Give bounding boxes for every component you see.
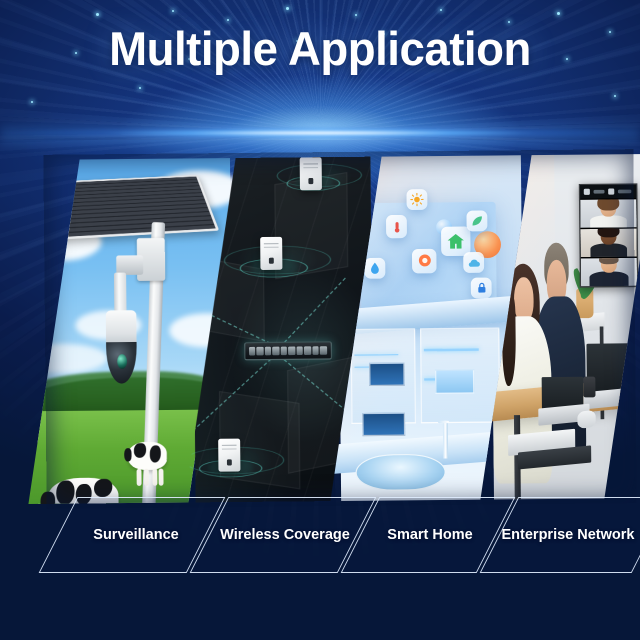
network-switch [244, 342, 332, 361]
video-call-toolbar[interactable] [580, 185, 636, 199]
application-image-strip [48, 154, 631, 504]
hud-readout [369, 362, 405, 386]
mouse [578, 410, 596, 429]
video-tile-participant-2[interactable] [580, 227, 636, 257]
participants-icon [584, 189, 590, 195]
hair [599, 257, 619, 265]
label-smart-home: Smart Home [362, 497, 498, 573]
shoulders [589, 271, 628, 286]
wireless-access-point [299, 157, 321, 190]
label-surveillance: Surveillance [62, 497, 210, 573]
hud-readout [362, 412, 405, 436]
shoulders [590, 215, 627, 228]
cow [127, 442, 166, 470]
leaf-icon [470, 214, 484, 228]
sink-basin [355, 454, 446, 491]
hair [598, 227, 620, 237]
camera-icon [416, 253, 432, 269]
tile-leaf[interactable] [466, 210, 487, 231]
video-tile-participant-1[interactable] [580, 198, 636, 228]
shelf-item [435, 370, 474, 394]
cow-head [124, 448, 132, 461]
thermometer-icon [390, 219, 402, 234]
droplet-icon [368, 261, 382, 275]
wireless-access-point [261, 237, 283, 270]
toolbar-label [618, 190, 631, 194]
video-call-window[interactable] [579, 183, 639, 287]
label-wireless-coverage: Wireless Coverage [211, 497, 359, 573]
solar-panel [46, 175, 218, 240]
faucet [443, 420, 448, 458]
tile-sun[interactable] [406, 190, 427, 211]
horizon-light-bar [0, 126, 640, 140]
chat-icon [608, 189, 614, 195]
tile-cloud[interactable] [463, 252, 484, 273]
cloud-icon [466, 255, 481, 270]
camera-lens-icon [117, 354, 127, 368]
tile-droplet[interactable] [364, 257, 385, 278]
label-enterprise-network: Enterprise Network [492, 497, 640, 573]
video-tile-participant-3[interactable] [581, 257, 637, 287]
application-label-bar: Surveillance Wireless Coverage Smart Hom… [0, 497, 640, 573]
sun-icon [410, 193, 424, 207]
wireless-access-point [218, 439, 240, 472]
hair [597, 198, 619, 211]
shoulders [590, 243, 627, 257]
tile-thermometer[interactable] [386, 215, 407, 238]
home-icon [446, 232, 466, 252]
poster-canvas: Multiple Application [0, 0, 640, 640]
lock-icon [475, 281, 487, 295]
coffee-cup [584, 377, 596, 398]
toolbar-label [594, 190, 605, 194]
tile-lock[interactable] [471, 277, 492, 298]
desk-leg [623, 414, 629, 499]
page-title: Multiple Application [10, 24, 631, 73]
tile-camera[interactable] [412, 248, 437, 273]
